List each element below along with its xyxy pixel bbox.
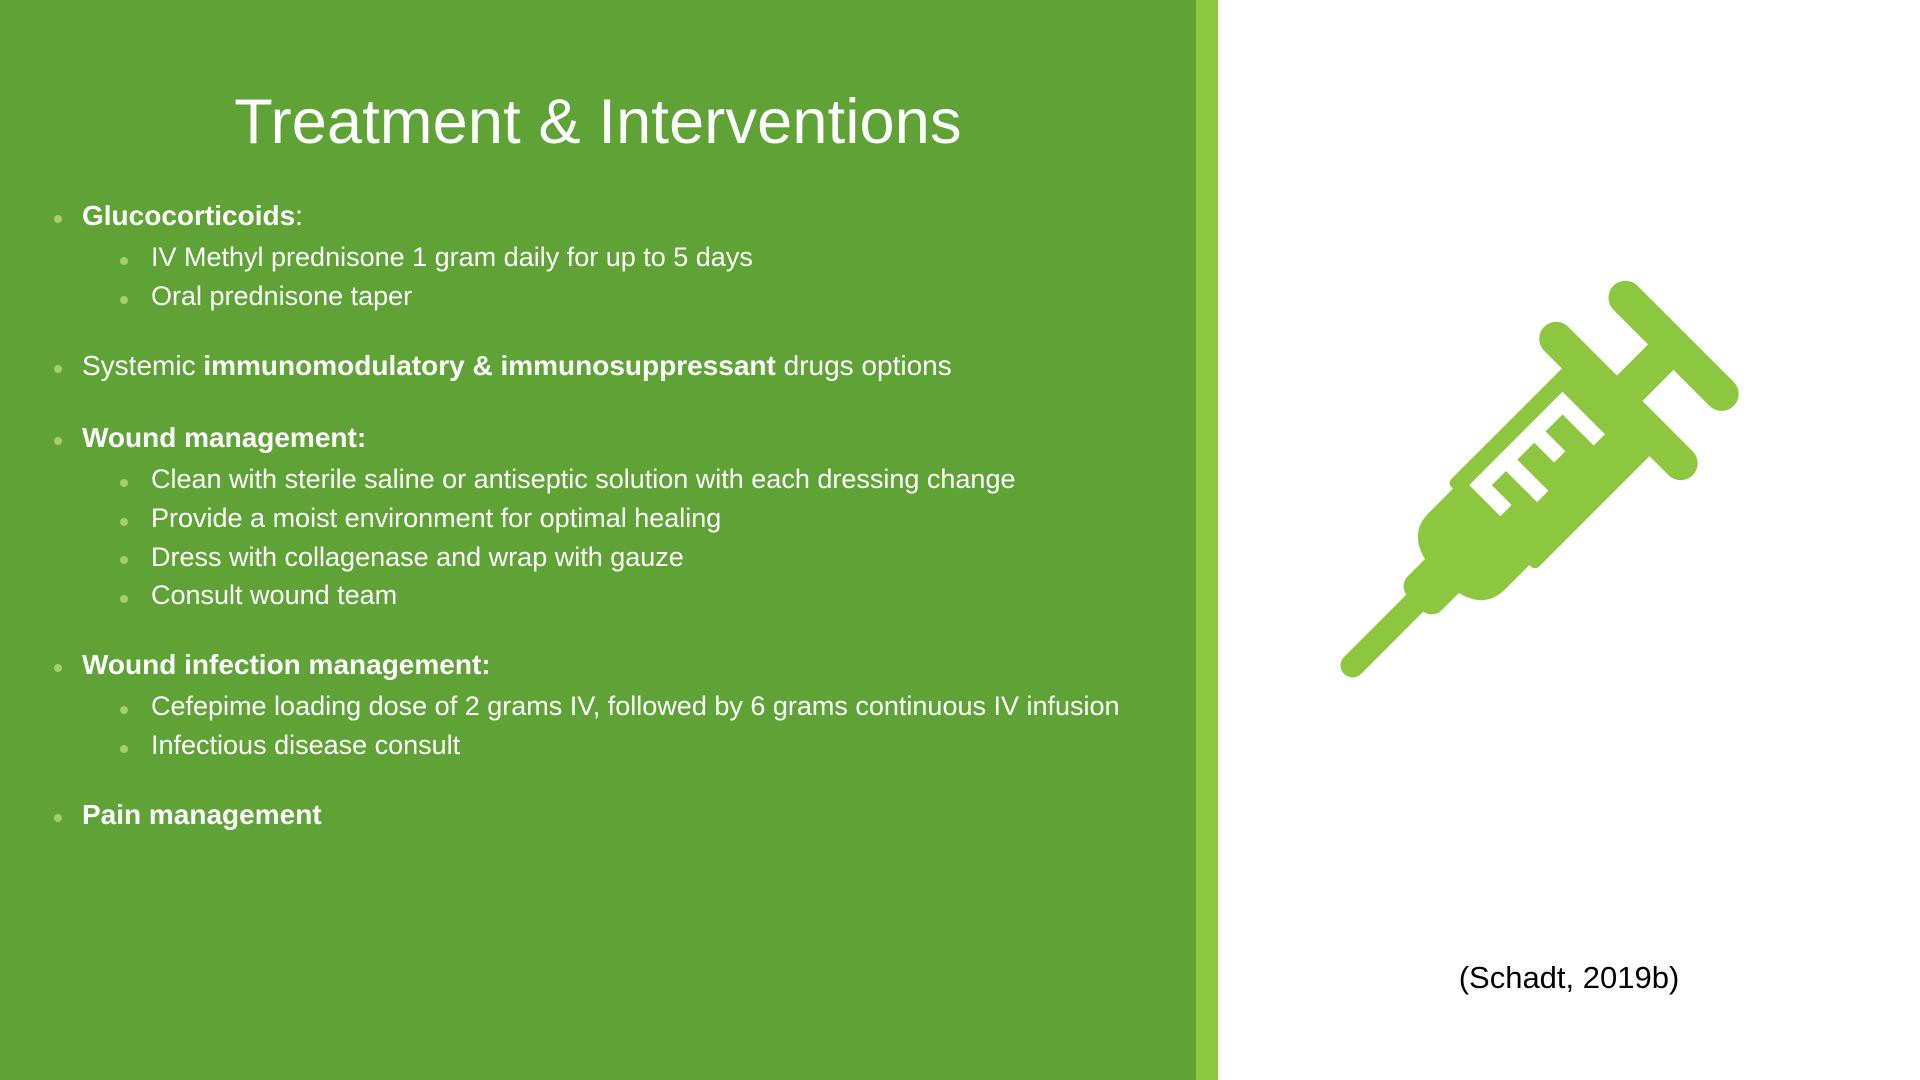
list-item-label: Systemic immunomodulatory & immunosuppre…	[82, 348, 1166, 384]
list-item-label: Cefepime loading dose of 2 grams IV, fol…	[151, 689, 1166, 725]
list-item-tail: drugs options	[776, 350, 952, 381]
list-item-label: Consult wound team	[151, 578, 1166, 614]
bullet-dot-icon	[120, 257, 128, 265]
list-item: Clean with sterile saline or antiseptic …	[46, 462, 1166, 498]
bullet-dot-icon	[54, 664, 62, 672]
list-item-label: Provide a moist environment for optimal …	[151, 501, 1166, 537]
list-item-label: IV Methyl prednisone 1 gram daily for up…	[151, 240, 1166, 276]
list-item-label: Pain management	[82, 797, 1166, 833]
bullet-dot-icon	[120, 745, 128, 753]
list-item-label: Glucocorticoids:	[82, 198, 1166, 234]
page-title: Treatment & Interventions	[0, 88, 1196, 157]
list-item: Consult wound team	[46, 578, 1166, 614]
bullet-dot-icon	[120, 595, 128, 603]
list-item: Glucocorticoids:	[46, 198, 1166, 234]
bullet-dot-icon	[120, 706, 128, 714]
spacer	[46, 318, 1166, 348]
right-illustration-area: (Schadt, 2019b)	[1218, 0, 1920, 1080]
list-item: Wound management:	[46, 420, 1166, 456]
bullet-list: Glucocorticoids: IV Methyl prednisone 1 …	[46, 198, 1166, 839]
list-item-bold: immunomodulatory & immunosuppressant	[203, 350, 776, 381]
slide: Treatment & Interventions Glucocorticoid…	[0, 0, 1920, 1080]
list-item: Dress with collagenase and wrap with gau…	[46, 540, 1166, 576]
list-item-label: Infectious disease consult	[151, 728, 1166, 764]
bullet-dot-icon	[120, 296, 128, 304]
bullet-dot-icon	[54, 215, 62, 223]
syringe-icon	[1268, 280, 1768, 720]
list-item-label: Wound management:	[82, 420, 1166, 456]
list-item: Infectious disease consult	[46, 728, 1166, 764]
list-item-label: Wound infection management:	[82, 647, 1166, 683]
bullet-dot-icon	[120, 518, 128, 526]
list-item-lead: Systemic	[82, 350, 203, 381]
syringe-icon-svg	[1268, 280, 1768, 720]
bullet-dot-icon	[120, 556, 128, 564]
list-item: Cefepime loading dose of 2 grams IV, fol…	[46, 689, 1166, 725]
list-item: Wound infection management:	[46, 647, 1166, 683]
citation-text: (Schadt, 2019b)	[1218, 960, 1920, 996]
list-item-bold: Glucocorticoids	[82, 200, 295, 231]
list-item: Systemic immunomodulatory & immunosuppre…	[46, 348, 1166, 384]
accent-stripe	[1196, 0, 1218, 1080]
spacer	[46, 390, 1166, 420]
spacer	[46, 767, 1166, 797]
list-item: IV Methyl prednisone 1 gram daily for up…	[46, 240, 1166, 276]
list-item: Provide a moist environment for optimal …	[46, 501, 1166, 537]
list-item-tail: :	[295, 200, 303, 231]
bullet-dot-icon	[54, 814, 62, 822]
bullet-dot-icon	[54, 365, 62, 373]
spacer	[46, 617, 1166, 647]
list-item-label: Oral prednisone taper	[151, 279, 1166, 315]
list-item: Oral prednisone taper	[46, 279, 1166, 315]
panel-inner: Treatment & Interventions Glucocorticoid…	[0, 0, 1196, 1080]
list-item: Pain management	[46, 797, 1166, 833]
list-item-label: Dress with collagenase and wrap with gau…	[151, 540, 1166, 576]
bullet-dot-icon	[120, 479, 128, 487]
bullet-dot-icon	[54, 437, 62, 445]
list-item-label: Clean with sterile saline or antiseptic …	[151, 462, 1166, 498]
